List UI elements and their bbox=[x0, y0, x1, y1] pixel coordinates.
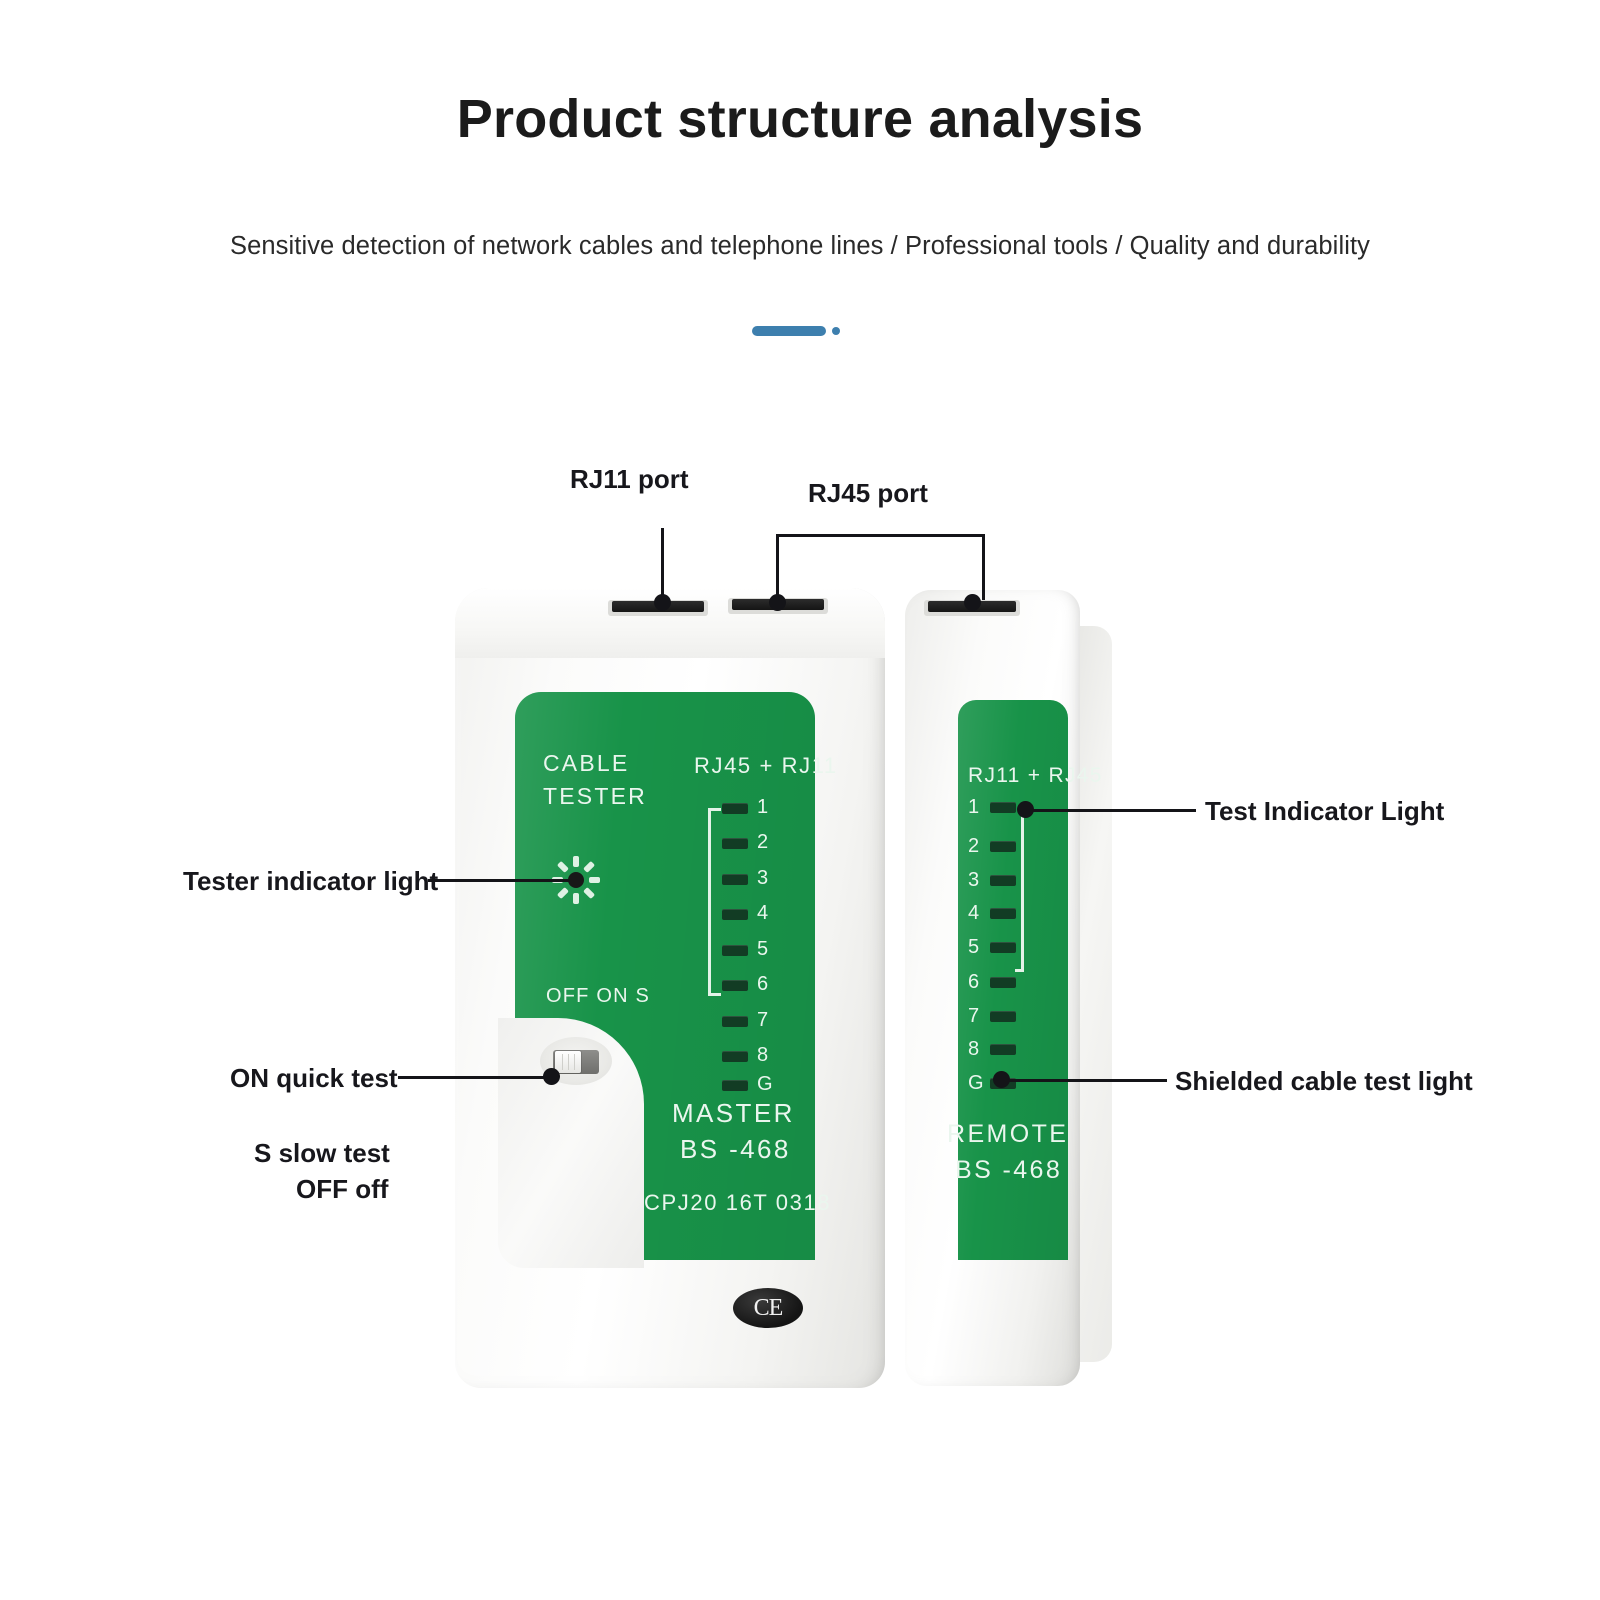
callout-off-off: OFF off bbox=[296, 1174, 388, 1205]
remote-led-1 bbox=[990, 802, 1016, 813]
remote-led-2 bbox=[990, 841, 1016, 852]
remote-led-7 bbox=[990, 1011, 1016, 1022]
master-brand-line1: CABLE bbox=[543, 750, 629, 777]
node-shielded-cable-test-light bbox=[993, 1071, 1010, 1088]
master-batch-code: CPJ20 16T 0318 bbox=[644, 1190, 831, 1216]
callout-test-indicator-light: Test Indicator Light bbox=[1205, 796, 1444, 827]
master-led-1 bbox=[722, 803, 748, 814]
remote-led-label-1: 1 bbox=[968, 799, 979, 815]
lead-tester-indicator-light bbox=[428, 879, 570, 882]
remote-led-5 bbox=[990, 942, 1016, 953]
remote-led-label-5: 5 bbox=[968, 939, 979, 955]
master-led-7 bbox=[722, 1016, 748, 1027]
master-led-label-7: 7 bbox=[757, 1012, 768, 1028]
lead-rj45-bracket-top bbox=[776, 534, 984, 537]
callout-shielded-cable-test-light: Shielded cable test light bbox=[1175, 1066, 1473, 1097]
remote-unit-model: BS -468 bbox=[955, 1156, 1062, 1185]
master-led-label-8: 8 bbox=[757, 1047, 768, 1063]
lead-on-quick-test bbox=[398, 1076, 550, 1079]
callout-s-slow-test: S slow test bbox=[254, 1138, 390, 1169]
master-led-label-3: 3 bbox=[757, 870, 768, 886]
master-led-2 bbox=[722, 838, 748, 849]
callout-on-quick-test: ON quick test bbox=[230, 1063, 398, 1094]
master-led-label-2: 2 bbox=[757, 834, 768, 850]
node-rj11-port bbox=[654, 594, 671, 611]
remote-led-label-3: 3 bbox=[968, 872, 979, 888]
master-led-6 bbox=[722, 980, 748, 991]
master-brand-line2: TESTER bbox=[543, 783, 647, 810]
master-led-label-5: 5 bbox=[757, 941, 768, 957]
remote-led-8 bbox=[990, 1044, 1016, 1055]
ce-certification-mark: CE bbox=[733, 1288, 803, 1328]
lead-shielded-cable-test-light bbox=[1005, 1079, 1167, 1082]
remote-led-label-2: 2 bbox=[968, 838, 979, 854]
remote-scan-line-foot bbox=[1015, 969, 1023, 972]
master-led-label-g: G bbox=[757, 1076, 773, 1092]
master-led-label-1: 1 bbox=[757, 799, 768, 815]
master-led-label-6: 6 bbox=[757, 976, 768, 992]
master-led-g bbox=[722, 1080, 748, 1091]
lead-rj45-right-drop bbox=[982, 534, 985, 600]
callout-tester-indicator-light: Tester indicator light bbox=[183, 866, 438, 897]
lead-rj45-left-drop bbox=[776, 534, 779, 600]
master-port-legend: RJ45 + RJ11 bbox=[694, 753, 838, 779]
lead-test-indicator-light bbox=[1030, 809, 1196, 812]
callout-rj11-port: RJ11 port bbox=[570, 464, 689, 495]
master-led-3 bbox=[722, 874, 748, 885]
node-on-quick-test bbox=[543, 1068, 560, 1085]
remote-led-label-6: 6 bbox=[968, 974, 979, 990]
product-structure-page: Product structure analysis Sensitive det… bbox=[0, 0, 1600, 1600]
callout-rj45-port: RJ45 port bbox=[808, 478, 928, 509]
remote-led-label-g: G bbox=[968, 1075, 984, 1091]
remote-led-label-4: 4 bbox=[968, 905, 979, 921]
remote-led-6 bbox=[990, 977, 1016, 988]
master-led-4 bbox=[722, 909, 748, 920]
master-led-label-4: 4 bbox=[757, 905, 768, 921]
lead-rj11-port bbox=[661, 528, 664, 600]
mode-switch-knob[interactable] bbox=[555, 1051, 581, 1073]
remote-port-legend: RJ11 + RJ45 bbox=[968, 764, 1103, 788]
node-test-indicator-light bbox=[1017, 801, 1034, 818]
node-rj45-master bbox=[769, 594, 786, 611]
master-led-bracket bbox=[708, 808, 721, 996]
master-led-5 bbox=[722, 945, 748, 956]
remote-led-label-8: 8 bbox=[968, 1041, 979, 1057]
master-led-8 bbox=[722, 1051, 748, 1062]
remote-led-4 bbox=[990, 908, 1016, 919]
node-rj45-remote bbox=[964, 594, 981, 611]
master-unit-model: BS -468 bbox=[680, 1134, 791, 1165]
tester-indicator-light-core bbox=[568, 872, 584, 888]
master-unit-name: MASTER bbox=[672, 1098, 795, 1129]
master-switch-legend: OFF ON S bbox=[546, 985, 650, 1008]
remote-led-label-7: 7 bbox=[968, 1008, 979, 1024]
remote-led-3 bbox=[990, 875, 1016, 886]
remote-unit-name: REMOTE bbox=[947, 1120, 1068, 1149]
remote-scan-line bbox=[1021, 812, 1024, 972]
ce-mark-label: CE bbox=[754, 1295, 783, 1322]
